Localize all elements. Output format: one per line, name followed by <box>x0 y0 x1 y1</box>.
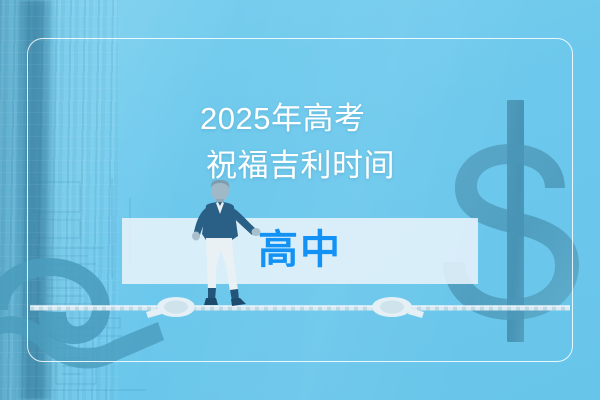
poster-canvas: 高中 <box>0 0 600 400</box>
businessman-figure <box>176 180 282 312</box>
poster-title: 2025年高考 祝福吉利时间 <box>200 95 430 189</box>
title-line-2: 祝福吉利时间 <box>200 142 430 189</box>
tightrope <box>0 286 600 328</box>
title-line-1: 2025年高考 <box>200 95 430 142</box>
